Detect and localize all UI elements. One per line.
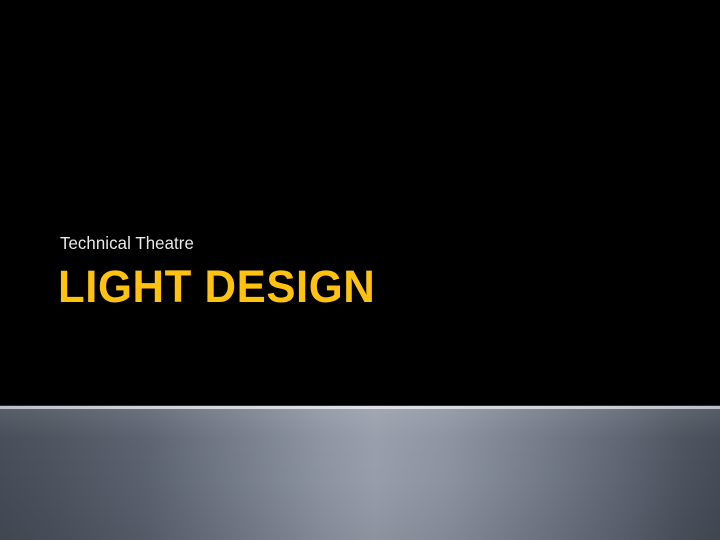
slide-background-top bbox=[0, 0, 720, 405]
presentation-slide: Technical Theatre LIGHT DESIGN bbox=[0, 0, 720, 540]
slide-title: LIGHT DESIGN bbox=[58, 262, 661, 312]
title-block: Technical Theatre LIGHT DESIGN bbox=[60, 232, 680, 312]
slide-subtitle: Technical Theatre bbox=[60, 232, 655, 254]
slide-footer-band bbox=[0, 409, 720, 540]
